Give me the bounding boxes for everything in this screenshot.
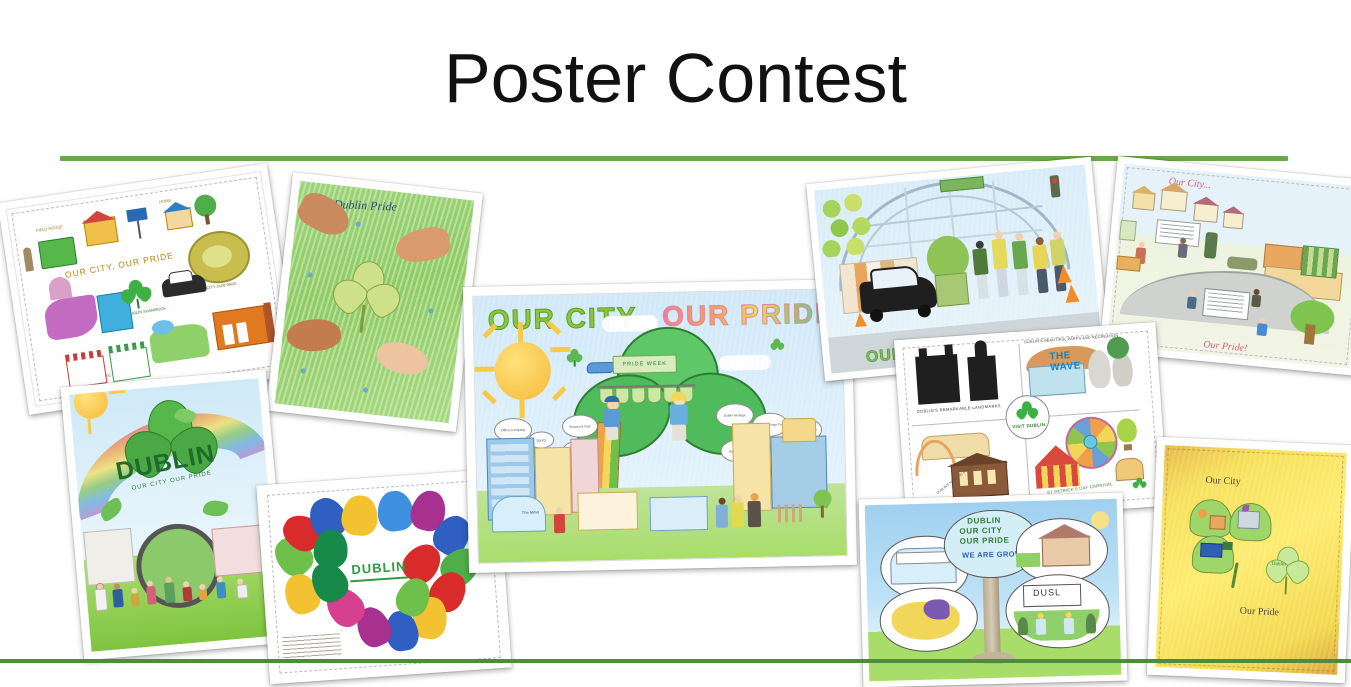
- poster3-person: [216, 576, 227, 599]
- poster8-balloon-basket: [1124, 444, 1132, 451]
- poster5-banner-text: PRIDE WEEK: [622, 361, 667, 368]
- poster8-tent-body: [1035, 464, 1080, 489]
- poster6-foliage: [816, 191, 878, 258]
- poster7-house: [1160, 189, 1188, 211]
- poster7-tree-trunk: [1304, 324, 1316, 345]
- poster7-left-panel: [1119, 220, 1137, 241]
- poster10-small-shamrock-label: Dublin: [1272, 562, 1286, 568]
- poster-our-city-big[interactable]: OUR CITY OUR PRIDE: [463, 279, 857, 573]
- poster5-bldg-library: [577, 491, 638, 530]
- poster8-label-wave: THEWAVE: [1049, 349, 1081, 373]
- poster7-person: [1251, 289, 1262, 308]
- poster8-window: [973, 471, 982, 486]
- poster5-crowd-person: [716, 498, 729, 528]
- poster9-slide-tube: [923, 599, 950, 620]
- poster10-scene-tree: [1222, 542, 1232, 550]
- poster9-rec-sign: [896, 551, 950, 564]
- poster5-bunting-flag: [647, 387, 661, 403]
- slide-root: Poster Contest OUR CITY, OUR PRIDE FIELD…: [0, 0, 1351, 670]
- poster6-cone: [854, 312, 867, 327]
- poster4-credits: [282, 633, 342, 661]
- poster3-person: [182, 581, 193, 602]
- poster7-shop-green: [1300, 245, 1339, 278]
- poster5-bldg-school: [649, 496, 708, 531]
- bottom-divider: [0, 659, 1351, 663]
- poster9-bush: [1018, 617, 1028, 635]
- poster10-caption-top: Our City: [1205, 475, 1241, 488]
- poster5-crowd-person: [747, 493, 761, 527]
- poster6-cone: [1056, 264, 1072, 283]
- poster9-sun: [1091, 511, 1109, 529]
- poster5-fence: [778, 504, 806, 523]
- poster10-small-shamrock: [1265, 546, 1309, 596]
- poster1-icon-shamrock: [119, 278, 155, 312]
- poster3-person: [198, 584, 207, 601]
- poster9-house-roof: [1037, 523, 1091, 538]
- poster3-sun: [72, 383, 109, 420]
- poster5-label-mavi: The MAVI: [522, 510, 540, 515]
- poster7-house: [1193, 203, 1219, 223]
- poster8-badge-text: VISIT DUBLIN: [1012, 422, 1045, 429]
- poster3-person: [112, 583, 124, 608]
- poster7-person: [1178, 237, 1189, 258]
- poster9-title-ourpride: OUR PRIDE: [960, 536, 1010, 546]
- poster5-sunray: [475, 366, 495, 371]
- poster5-airplane: [587, 362, 615, 374]
- poster8-badge-shamrock: [1015, 400, 1038, 423]
- poster3-sunray: [109, 390, 125, 394]
- page-title: Poster Contest: [0, 38, 1351, 118]
- poster5-sunray: [518, 322, 523, 342]
- poster-growing-tree[interactable]: DUBLIN OUR CITY OUR PRIDE WE ARE GROWING…: [859, 493, 1128, 687]
- poster3-sunray: [87, 419, 91, 434]
- poster8-window: [987, 470, 996, 485]
- poster-dublin-rainbow[interactable]: DUBLIN OUR CITY OUR PRIDE: [60, 370, 289, 661]
- poster9-bush: [1086, 613, 1097, 633]
- poster9-dusl-kid: [1036, 613, 1047, 635]
- poster8-landmark-spire: [919, 348, 928, 361]
- poster10-scene-bus: [1200, 543, 1223, 558]
- poster5-person-red: [554, 507, 566, 533]
- poster3-leaf: [202, 498, 229, 519]
- poster10-scene-building: [1237, 510, 1260, 529]
- poster9-dusl-text: DUSL: [1033, 587, 1061, 598]
- poster9-house-lawn: [1016, 553, 1040, 568]
- poster1-icon-greenbuilding: [38, 236, 78, 269]
- poster9-title-dublin: DUBLIN: [967, 516, 1001, 526]
- poster3-building-right: [211, 525, 265, 577]
- poster7-left-bench: [1116, 255, 1141, 271]
- poster7-person: [1256, 317, 1268, 336]
- poster3-person: [94, 582, 106, 609]
- poster3-person: [236, 578, 247, 597]
- poster5-kid-right: [667, 392, 690, 440]
- poster8-landmark-building: [915, 354, 960, 405]
- poster5-crowd-person: [731, 495, 744, 527]
- poster7-road-sign-text: [1207, 292, 1245, 313]
- poster8-landmark-church: [967, 355, 998, 401]
- poster3-person: [130, 587, 140, 606]
- title-divider: [60, 156, 1288, 161]
- poster5-sunray: [519, 400, 524, 418]
- poster10-caption-bottom: Our Pride: [1240, 606, 1280, 619]
- poster8-corner-shamrock: [1132, 477, 1147, 492]
- poster-dublin-pride-hands[interactable]: Dublin Pride: [266, 172, 483, 432]
- poster8-landmark-spire: [944, 344, 953, 359]
- poster3-building-left: [83, 528, 136, 586]
- poster6-cart-window: [870, 265, 920, 291]
- poster5-bunting-flag: [631, 387, 645, 403]
- poster8-landmark-tower: [974, 340, 987, 359]
- poster-landmarks-quad[interactable]: DUBLIN'S REMARKABLE LANDMARKS DUBLIN'S B…: [894, 322, 1168, 524]
- poster5-sky-shamrock: [770, 338, 784, 354]
- poster5-kid-left: [601, 398, 622, 440]
- poster9-dusl-kid: [1064, 612, 1075, 634]
- poster5-banner: PRIDE WEEK: [613, 355, 677, 374]
- poster5-bldg-right-peak: [782, 418, 816, 443]
- poster-yellow-shamrock[interactable]: Our City Our Pride Dublin: [1147, 437, 1351, 683]
- poster2-shamrock: [329, 257, 403, 336]
- poster6-planter: [934, 272, 969, 307]
- poster6-cone: [1064, 284, 1080, 303]
- poster9-title-ourcity: OUR CITY: [959, 526, 1002, 536]
- poster10-scene-house: [1209, 515, 1226, 530]
- poster3-person: [163, 576, 175, 603]
- poster7-person: [1187, 290, 1198, 309]
- poster9-house: [1042, 535, 1091, 566]
- poster7-kiosk: [1204, 232, 1218, 259]
- poster5-tree-trunk: [821, 506, 824, 518]
